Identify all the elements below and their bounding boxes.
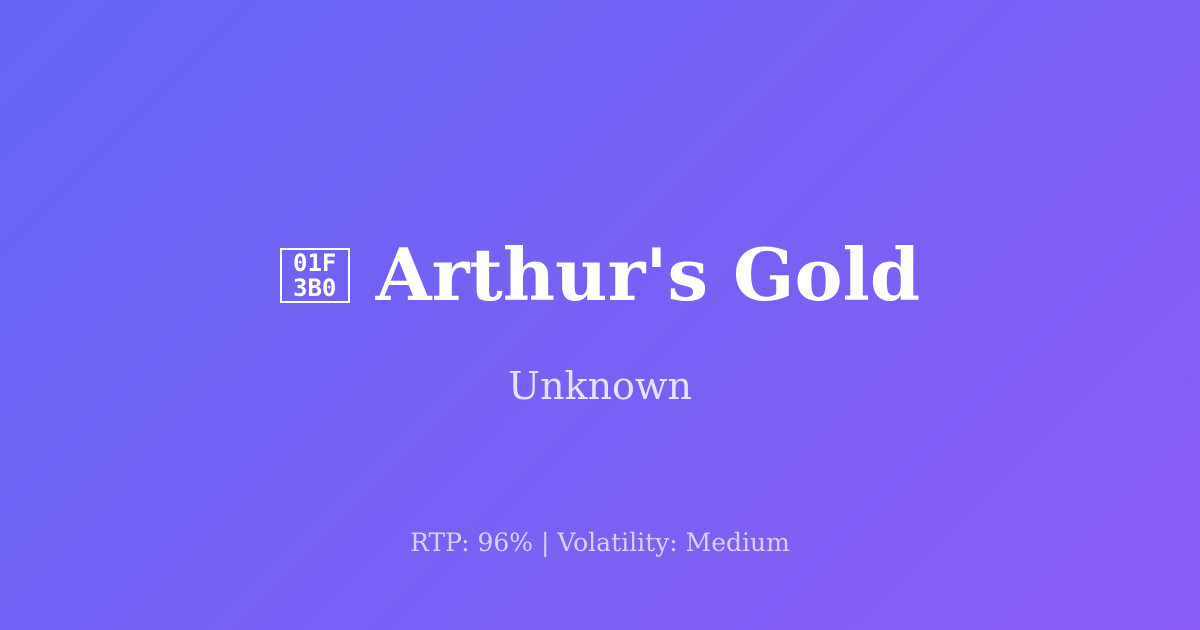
game-stats: RTP: 96% | Volatility: Medium: [0, 526, 1200, 560]
title-row: 01F 3B0 Arthur's Gold: [0, 232, 1200, 318]
codepoint-top: 01F: [293, 251, 336, 276]
page-title: Arthur's Gold: [376, 232, 921, 318]
provider-label: Unknown: [0, 362, 1200, 410]
slot-machine-icon: 01F 3B0: [280, 248, 350, 303]
codepoint-bottom: 3B0: [293, 276, 336, 301]
og-share-card: 01F 3B0 Arthur's Gold Unknown RTP: 96% |…: [0, 0, 1200, 630]
